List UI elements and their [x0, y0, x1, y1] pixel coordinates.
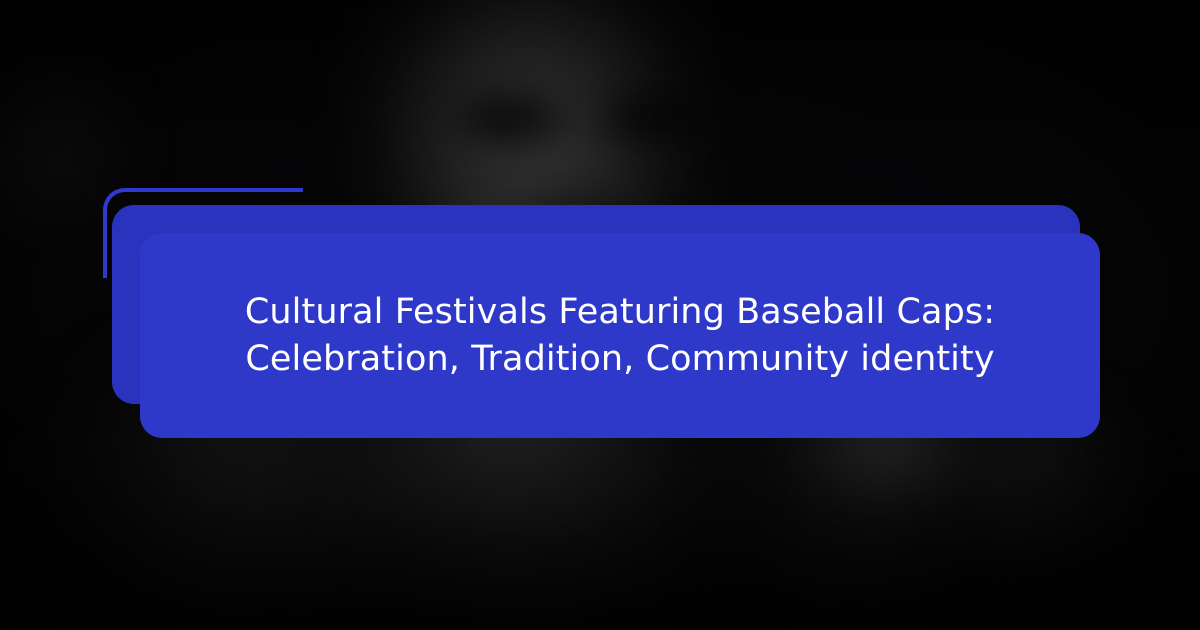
title-line-1: Cultural Festivals Featuring Baseball Ca…	[245, 292, 995, 332]
title-card-front-layer: Cultural Festivals Featuring Baseball Ca…	[140, 233, 1100, 438]
share-card-canvas: Cultural Festivals Featuring Baseball Ca…	[0, 0, 1200, 630]
title-line-2: Celebration, Tradition, Community identi…	[245, 339, 994, 379]
page-title: Cultural Festivals Featuring Baseball Ca…	[211, 289, 1029, 381]
